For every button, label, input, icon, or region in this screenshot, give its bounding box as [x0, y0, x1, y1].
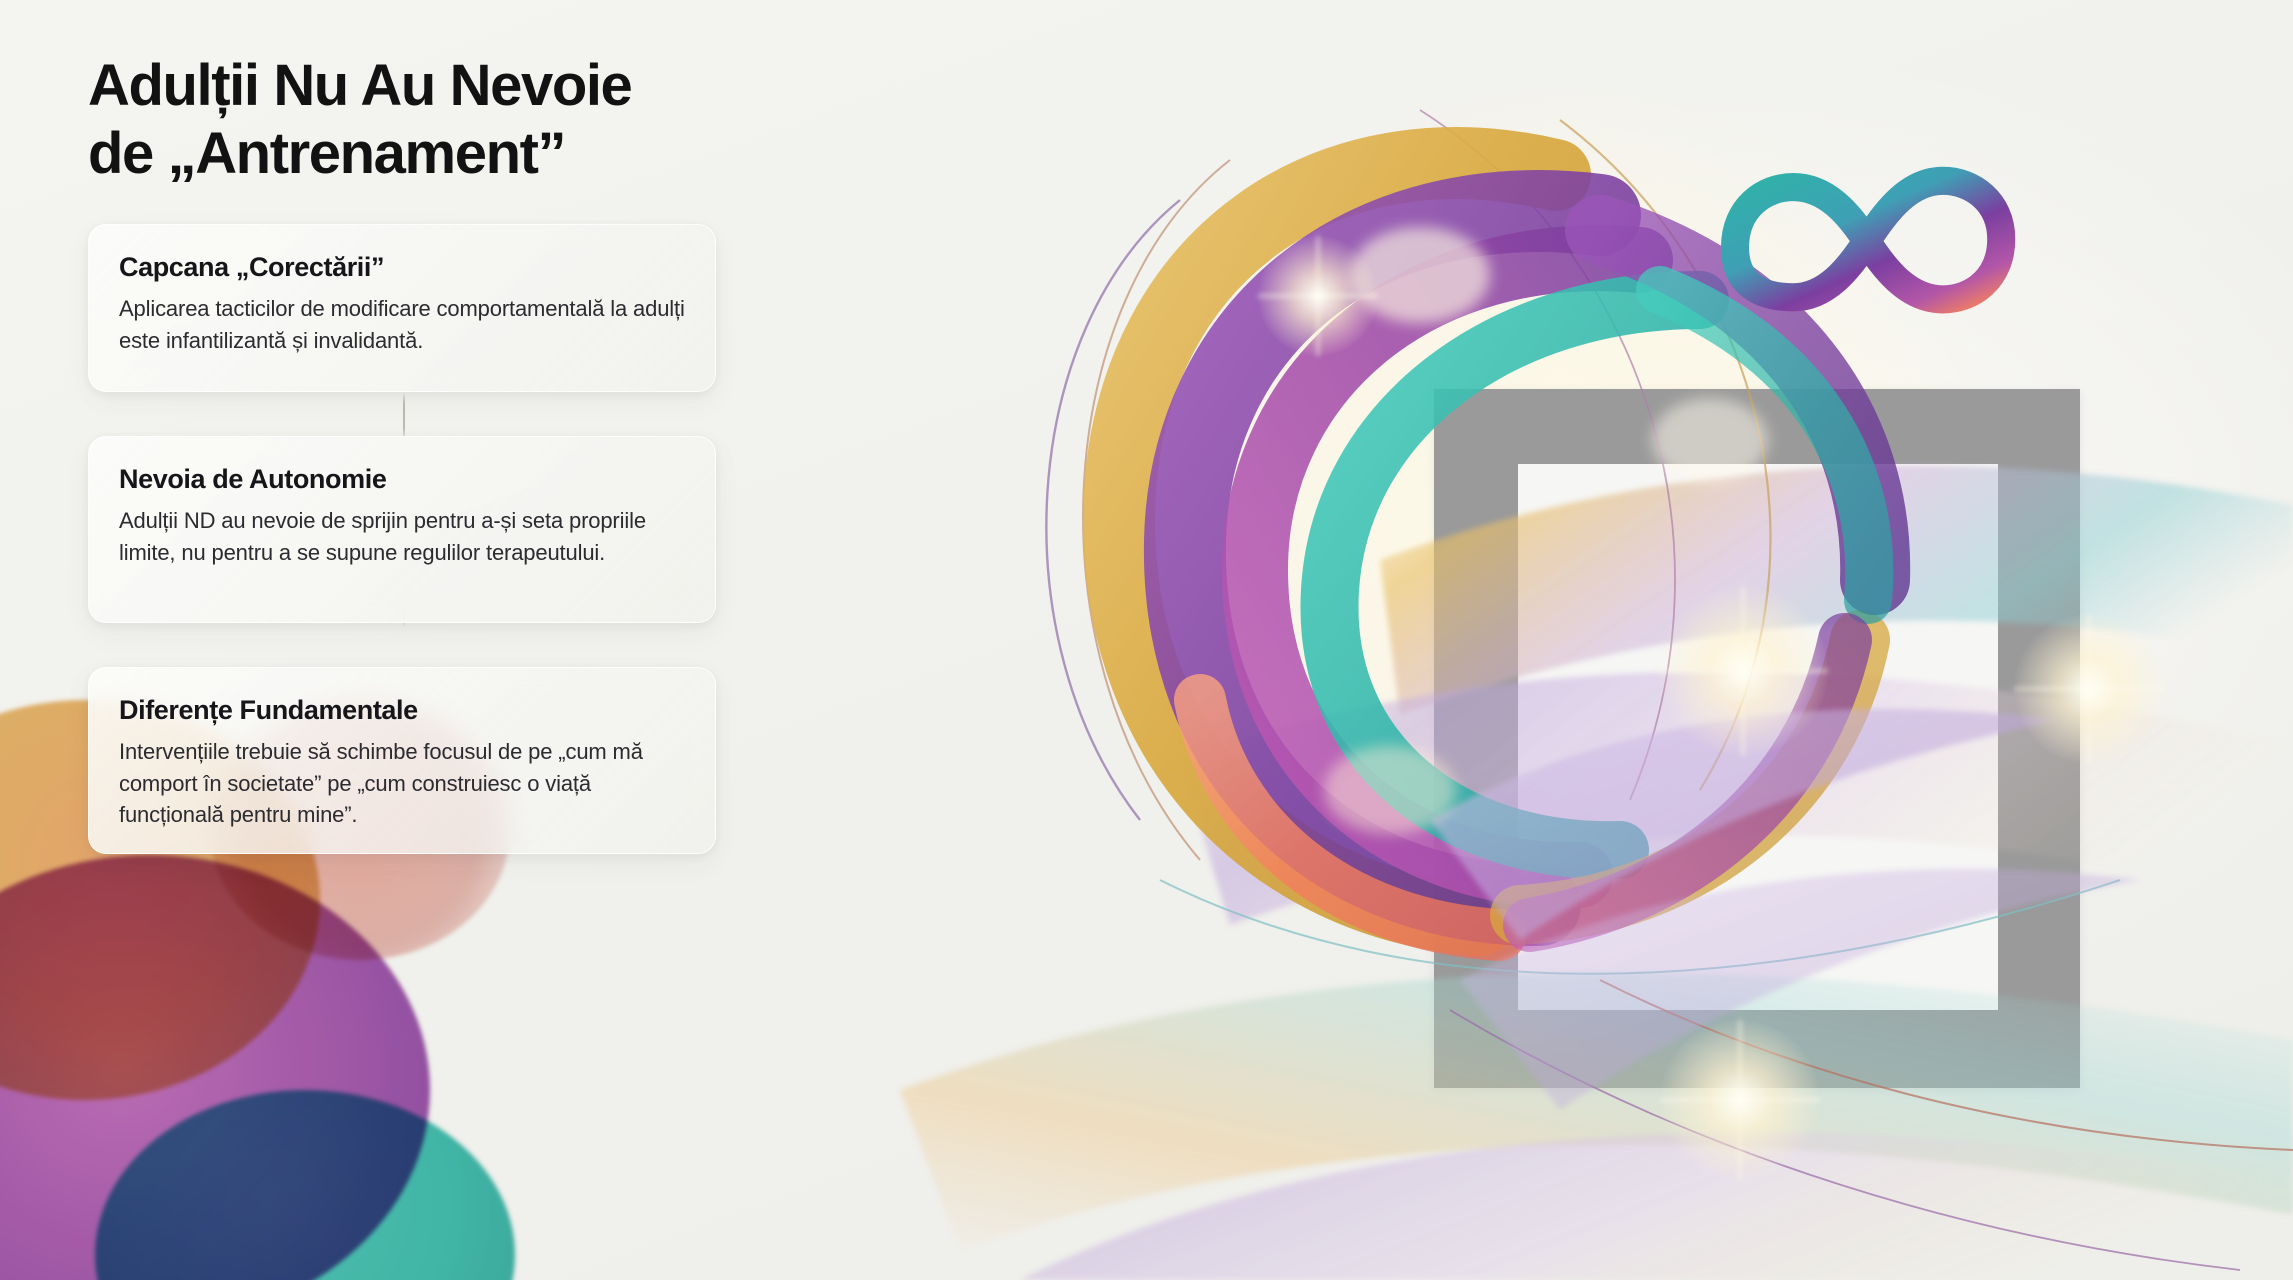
card-capcana-corectarii[interactable]: Capcana „Corectării” Aplicarea tacticilo… — [88, 224, 716, 392]
sparkle-flare-lower-icon — [1660, 1020, 1820, 1180]
card-body: Intervențiile trebuie să schimbe focusul… — [119, 736, 685, 830]
page-title-line-2: de „Antrenament” — [88, 120, 808, 188]
blob-magenta-icon — [0, 855, 430, 1280]
gray-square-frame-icon — [1434, 389, 2080, 1088]
page-title: Adulții Nu Au Nevoie de „Antrenament” — [88, 52, 808, 189]
sparkle-flare-upper-icon — [1658, 586, 1828, 756]
sparkle-flare-right-icon — [2014, 614, 2164, 764]
card-connector-1 — [403, 392, 405, 440]
sparkle-flare-topleft-icon — [1258, 236, 1378, 356]
ring-glow-halo — [1110, 70, 2010, 970]
blob-teal-icon — [95, 1090, 515, 1280]
card-heading: Diferențe Fundamentale — [119, 694, 685, 726]
slide-root: Adulții Nu Au Nevoie de „Antrenament” Ca… — [0, 0, 2293, 1280]
card-heading: Capcana „Corectării” — [119, 251, 685, 283]
card-nevoia-de-autonomie[interactable]: Nevoia de Autonomie Adulții ND au nevoie… — [88, 436, 716, 623]
card-diferente-fundamentale[interactable]: Diferențe Fundamentale Intervențiile tre… — [88, 667, 716, 854]
card-body: Adulții ND au nevoie de sprijin pentru a… — [119, 505, 685, 567]
card-body: Aplicarea tacticilor de modificare compo… — [119, 293, 685, 355]
frame-inner-area — [1518, 464, 1998, 1010]
card-list: Capcana „Corectării” Aplicarea tacticilo… — [88, 224, 716, 854]
neurodiversity-infinity-icon — [1735, 181, 2001, 300]
card-heading: Nevoia de Autonomie — [119, 463, 685, 495]
page-title-line-1: Adulții Nu Au Nevoie — [88, 52, 808, 120]
